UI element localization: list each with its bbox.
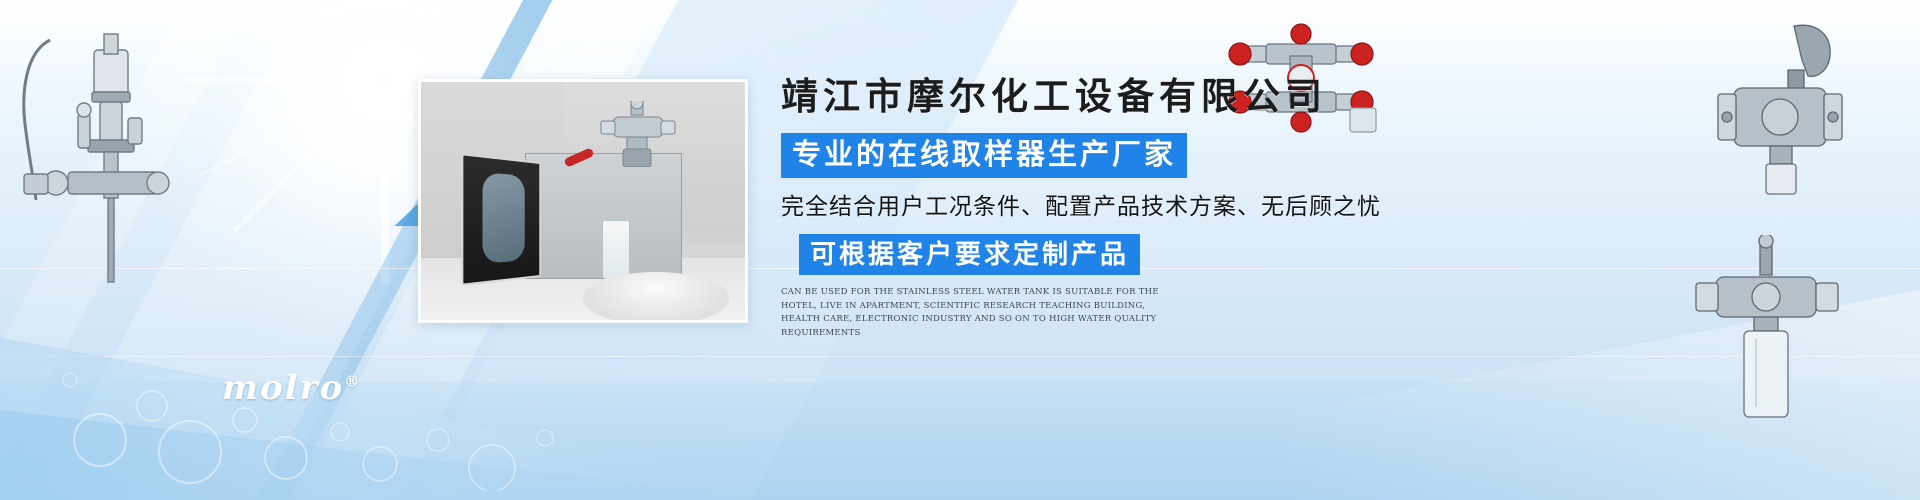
product-photo [418, 79, 748, 323]
photo-cabinet-door [461, 153, 541, 286]
watermark-text: molro [222, 368, 344, 408]
photo-base-disc [583, 272, 729, 323]
watermark-logo: molro® [222, 368, 361, 408]
photo-valve-head [599, 101, 677, 167]
photo-door-window [482, 173, 524, 265]
banner-copy: 靖江市摩尔化工设备有限公司 专业的在线取样器生产厂家 完全结合用户工况条件、配置… [781, 74, 1401, 340]
flanged-valve-illustration [1690, 18, 1870, 198]
promo-banner: 靖江市摩尔化工设备有限公司 专业的在线取样器生产厂家 完全结合用户工况条件、配置… [0, 0, 1920, 500]
custom-product-badge: 可根据客户要求定制产品 [799, 234, 1140, 275]
registered-mark-icon: ® [344, 373, 361, 391]
english-description: CAN BE USED FOR THE STAINLESS STEEL WATE… [781, 286, 1173, 340]
product-photo-image [421, 82, 745, 320]
subheadline: 完全结合用户工况条件、配置产品技术方案、无后顾之忧 [781, 191, 1401, 221]
left-equipment-illustration [8, 22, 188, 302]
photo-sample-bottle [602, 220, 630, 280]
company-name: 靖江市摩尔化工设备有限公司 [781, 74, 1401, 118]
headline-badge: 专业的在线取样器生产厂家 [781, 133, 1187, 178]
